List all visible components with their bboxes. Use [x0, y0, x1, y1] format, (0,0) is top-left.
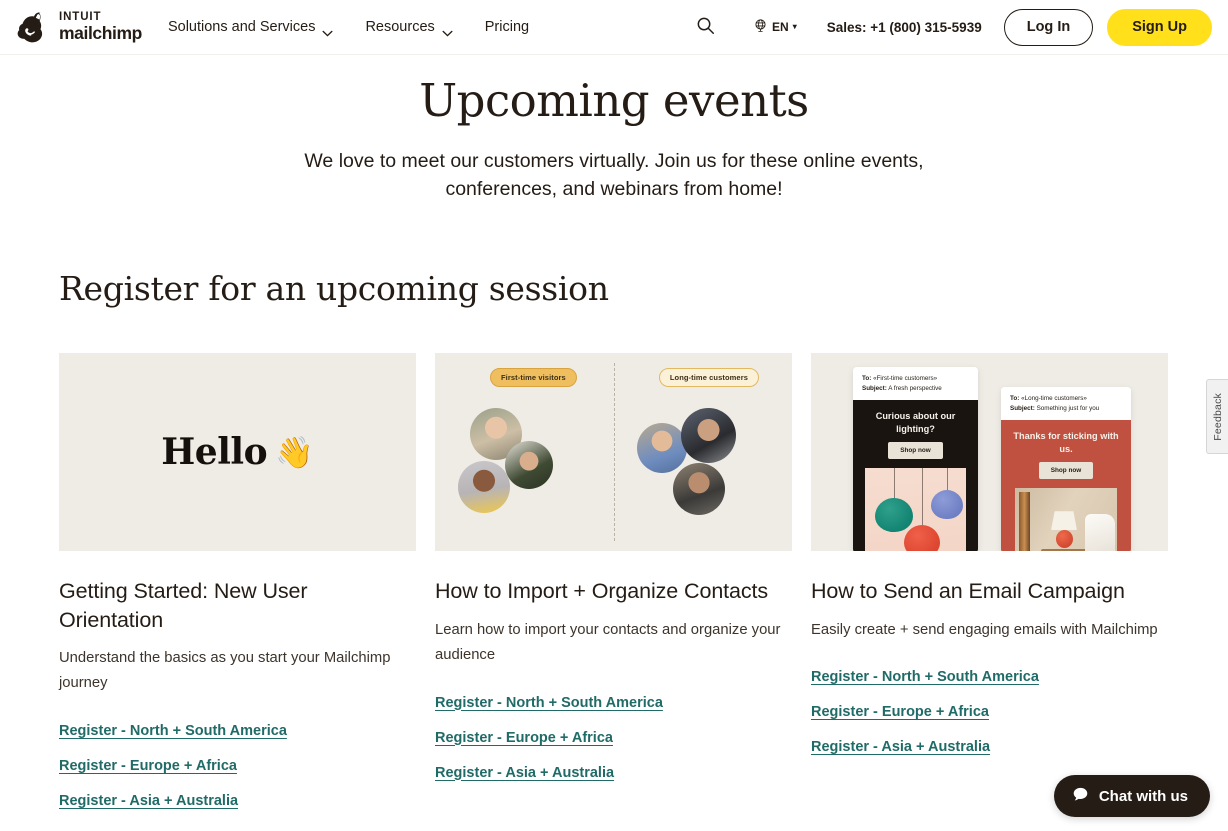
search-icon	[696, 16, 715, 38]
email-preview-red: To: «Long-time customers» Subject: Somet…	[1001, 387, 1131, 551]
nav-item-resources[interactable]: Resources	[349, 13, 468, 41]
audience-segments-illustration: First-time visitors Long-time customers	[435, 353, 792, 551]
register-link-asia-australia[interactable]: Register - Asia + Australia	[59, 784, 238, 818]
nav-label: Pricing	[485, 19, 529, 35]
card-title: Getting Started: New User Orientation	[59, 577, 416, 634]
email-headline: Curious about our lighting?	[861, 410, 970, 435]
avatar	[505, 441, 553, 489]
email-preview-header: To: «Long-time customers» Subject: Somet…	[1001, 387, 1131, 420]
register-link-asia-australia[interactable]: Register - Asia + Australia	[435, 756, 614, 790]
language-selector[interactable]: EN ▾	[747, 14, 803, 40]
log-in-button[interactable]: Log In	[1004, 9, 1094, 46]
chevron-down-icon	[322, 25, 333, 32]
nav-label: Solutions and Services	[168, 19, 316, 35]
email-to-label: To:	[862, 375, 871, 382]
session-card: First-time visitors Long-time customers …	[435, 353, 792, 818]
language-code: EN	[772, 20, 789, 34]
pendant-lamps-photo	[865, 468, 966, 551]
search-button[interactable]	[688, 12, 723, 42]
freddie-mailchimp-monkey-logo-icon	[14, 8, 52, 46]
feedback-tab[interactable]: Feedback	[1206, 379, 1228, 454]
email-headline: Thanks for sticking with us.	[1009, 430, 1123, 455]
chevron-down-icon	[442, 25, 453, 32]
segment-pill-first-time-visitors: First-time visitors	[490, 368, 577, 387]
avatar	[681, 408, 736, 463]
register-link-europe-africa[interactable]: Register - Europe + Africa	[435, 721, 613, 755]
email-to-value: «First-time customers»	[873, 375, 937, 382]
email-campaign-illustration: To: «First-time customers» Subject: A fr…	[811, 353, 1168, 551]
card-title: How to Send an Email Campaign	[811, 577, 1168, 605]
wood-panel	[1019, 492, 1030, 551]
card-description: Learn how to import your contacts and or…	[435, 618, 792, 669]
hero-section: Upcoming events We love to meet our cust…	[0, 55, 1228, 203]
email-preview-body: Curious about our lighting? Shop now	[853, 400, 978, 551]
page-subtitle: We love to meet our customers virtually.…	[264, 147, 964, 204]
section-title: Register for an upcoming session	[59, 269, 1169, 308]
segment-pill-long-time-customers: Long-time customers	[659, 368, 759, 387]
caret-down-icon: ▾	[793, 22, 797, 31]
mailchimp-logo[interactable]: INTUIT mailchimp	[14, 8, 142, 46]
register-link-americas[interactable]: Register - North + South America	[59, 714, 287, 748]
email-to-label: To:	[1010, 395, 1019, 402]
red-pendant-lamp	[904, 525, 940, 551]
blue-pendant-lamp	[931, 490, 963, 519]
chat-with-us-label: Chat with us	[1099, 788, 1188, 805]
hello-word-text: Hello	[161, 431, 267, 473]
globe-icon	[753, 18, 768, 36]
register-link-americas[interactable]: Register - North + South America	[435, 686, 663, 720]
email-subject-label: Subject:	[862, 385, 887, 392]
chat-with-us-button[interactable]: Chat with us	[1054, 775, 1210, 817]
page-title: Upcoming events	[120, 75, 1108, 127]
lamp-shade	[1051, 511, 1077, 530]
pillow	[1085, 514, 1115, 551]
card-description: Understand the basics as you start your …	[59, 646, 416, 697]
register-link-europe-africa[interactable]: Register - Europe + Africa	[59, 749, 237, 783]
card-link-list: Register - North + South America Registe…	[59, 714, 416, 818]
lamp-cord	[894, 468, 895, 502]
register-link-americas[interactable]: Register - North + South America	[811, 660, 1039, 694]
email-to-value: «Long-time customers»	[1021, 395, 1087, 402]
hello-illustration: Hello 👋	[59, 353, 416, 551]
nav-item-pricing[interactable]: Pricing	[469, 13, 545, 41]
feedback-tab-label: Feedback	[1212, 393, 1224, 441]
header-actions: EN ▾ Sales: +1 (800) 315-5939 Log In Sig…	[688, 9, 1212, 46]
lamp-cord	[922, 468, 923, 528]
card-media-audiences: First-time visitors Long-time customers	[435, 353, 792, 551]
register-link-asia-australia[interactable]: Register - Asia + Australia	[811, 730, 990, 764]
sales-phone-link[interactable]: Sales: +1 (800) 315-5939	[827, 20, 982, 35]
avatar	[673, 463, 725, 515]
email-preview-header: To: «First-time customers» Subject: A fr…	[853, 367, 978, 400]
sessions-section: Register for an upcoming session Hello 👋…	[0, 269, 1228, 818]
site-header: INTUIT mailchimp Solutions and Services …	[0, 0, 1228, 55]
card-media-hello: Hello 👋	[59, 353, 416, 551]
avatar	[637, 423, 687, 473]
avatar	[458, 461, 510, 513]
session-card: To: «First-time customers» Subject: A fr…	[811, 353, 1168, 818]
card-media-email-previews: To: «First-time customers» Subject: A fr…	[811, 353, 1168, 551]
card-description: Easily create + send engaging emails wit…	[811, 618, 1168, 643]
email-preview-body: Thanks for sticking with us. Shop now	[1001, 420, 1131, 551]
logo-intuit-text: INTUIT	[59, 12, 142, 24]
card-link-list: Register - North + South America Registe…	[435, 686, 792, 790]
sign-up-button[interactable]: Sign Up	[1107, 9, 1212, 46]
dashed-divider	[614, 363, 615, 541]
nav-label: Resources	[365, 19, 434, 35]
email-subject-label: Subject:	[1010, 405, 1035, 412]
register-link-europe-africa[interactable]: Register - Europe + Africa	[811, 695, 989, 729]
teal-pendant-lamp	[875, 498, 913, 532]
session-card: Hello 👋 Getting Started: New User Orient…	[59, 353, 416, 818]
card-link-list: Register - North + South America Registe…	[811, 660, 1168, 764]
waving-hand-icon: 👋	[275, 437, 314, 468]
shop-now-button[interactable]: Shop now	[1039, 462, 1094, 479]
bedroom-lamp-photo	[1015, 488, 1117, 551]
shop-now-button[interactable]: Shop now	[888, 442, 943, 459]
chat-bubble-icon	[1072, 786, 1089, 807]
email-subject-value: Something just for you	[1037, 405, 1100, 412]
card-title: How to Import + Organize Contacts	[435, 577, 792, 605]
nav-item-solutions-and-services[interactable]: Solutions and Services	[168, 13, 350, 41]
side-table	[1041, 549, 1089, 551]
session-card-grid: Hello 👋 Getting Started: New User Orient…	[59, 353, 1169, 818]
email-preview-dark: To: «First-time customers» Subject: A fr…	[853, 367, 978, 551]
logo-mailchimp-text: mailchimp	[59, 25, 142, 43]
email-subject-value: A fresh perspective	[888, 385, 942, 392]
main-navigation: Solutions and Services Resources Pricing	[168, 13, 545, 41]
